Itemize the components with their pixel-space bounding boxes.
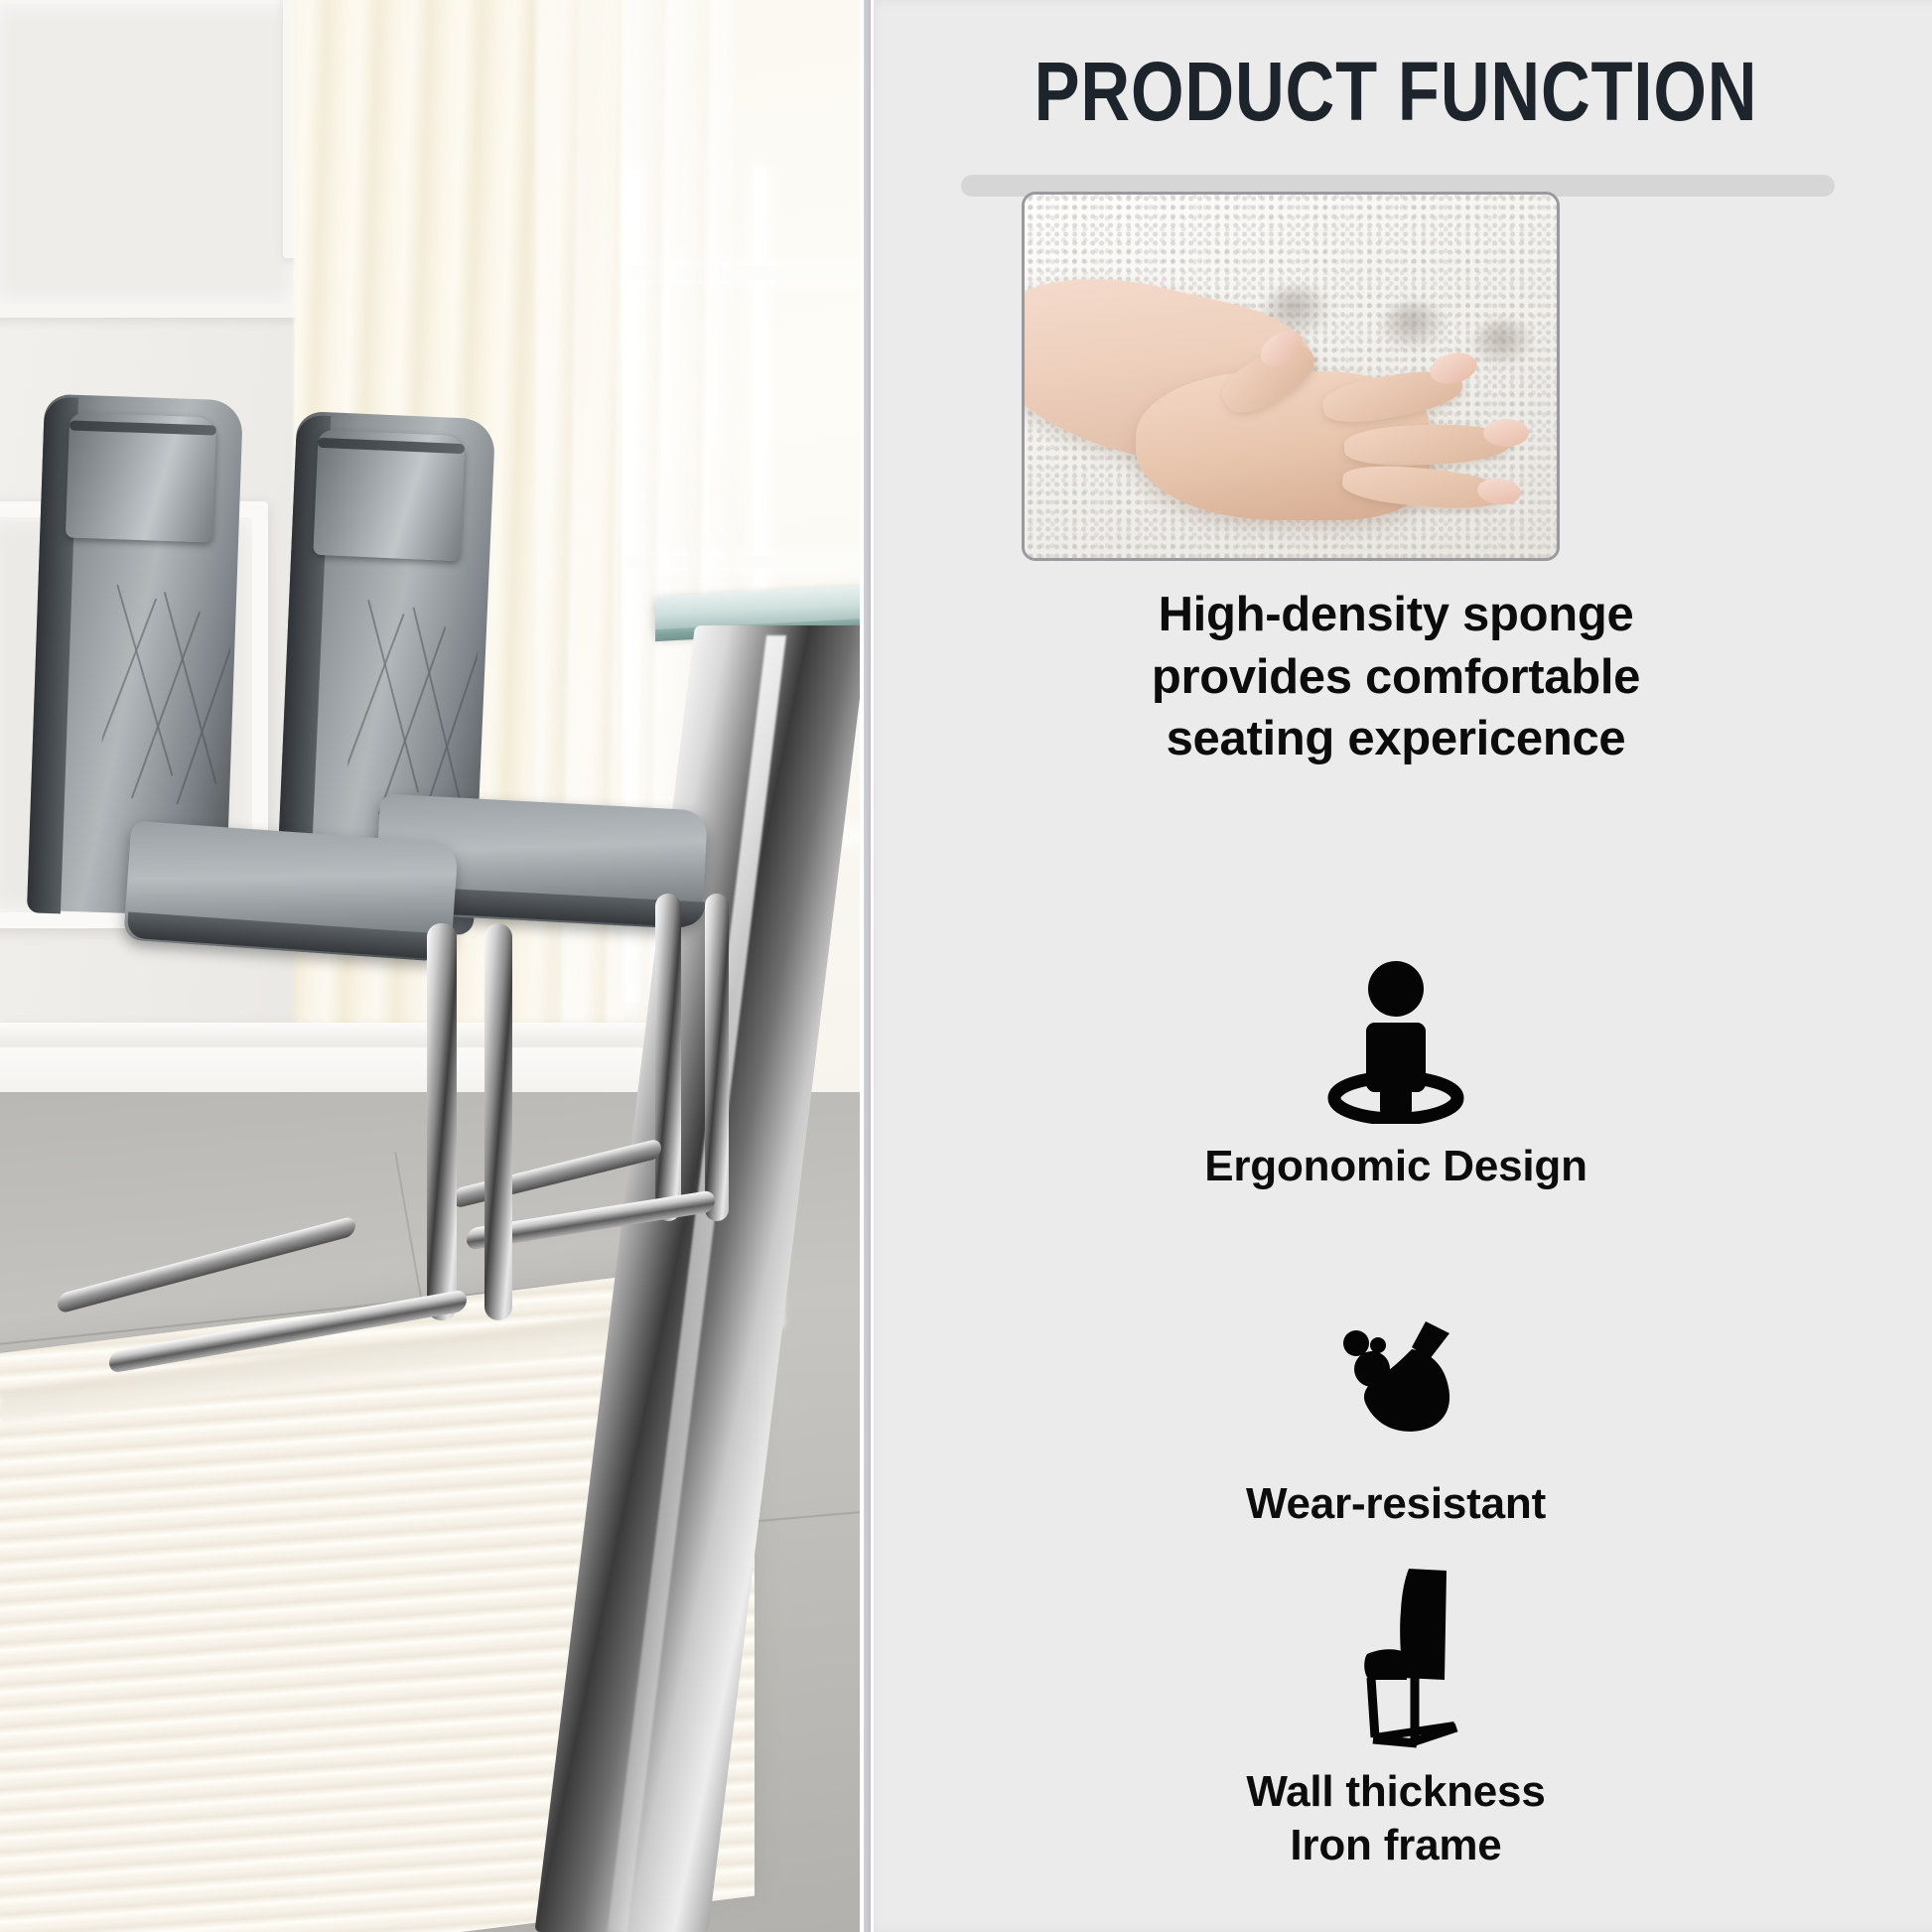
foam-indentation bbox=[1382, 302, 1448, 351]
feature-label: Wear-resistant bbox=[860, 1477, 1932, 1531]
feature-iron-frame: Wall thickness Iron frame bbox=[860, 1555, 1932, 1871]
feature-label: Wall thickness Iron frame bbox=[860, 1765, 1932, 1871]
panel-divider bbox=[864, 0, 871, 1932]
feature-label: Ergonomic Design bbox=[860, 1140, 1932, 1193]
chair-leg-tube bbox=[705, 894, 729, 1221]
feature-label-line-1: Wall thickness bbox=[860, 1765, 1932, 1819]
headline-line-1: High-density sponge bbox=[860, 584, 1932, 646]
page-title: PRODUCT FUNCTION bbox=[956, 44, 1836, 140]
feature-label-line-1: Wear-resistant bbox=[860, 1477, 1932, 1531]
headline-line-3: seating expericence bbox=[860, 708, 1932, 770]
person-in-circle-icon bbox=[1316, 957, 1475, 1124]
feature-icon-wrap bbox=[860, 1299, 1932, 1477]
headline-line-2: provides comfortable bbox=[860, 646, 1932, 709]
foam-indentation bbox=[1473, 320, 1535, 367]
broom-sweeping-icon bbox=[1309, 1313, 1483, 1462]
feature-ergonomic-design: Ergonomic Design bbox=[860, 941, 1932, 1193]
product-function-infographic: PRODUCT FUNCTION High-density sponge pro… bbox=[0, 0, 1932, 1932]
cantilever-chair-icon bbox=[1306, 1563, 1486, 1757]
product-scene-photo bbox=[0, 0, 860, 1932]
hero-headline: High-density sponge provides comfortable… bbox=[860, 584, 1932, 770]
chair-leg-tube bbox=[484, 923, 512, 1320]
wall-moulding-panel bbox=[0, 0, 308, 318]
feature-label-line-2: Iron frame bbox=[860, 1819, 1932, 1872]
chair-quilting bbox=[98, 554, 233, 856]
feature-label-line-1: Ergonomic Design bbox=[860, 1140, 1932, 1193]
fingernail bbox=[1483, 419, 1529, 447]
product-function-panel: PRODUCT FUNCTION High-density sponge pro… bbox=[860, 0, 1932, 1932]
feature-wear-resistant: Wear-resistant bbox=[860, 1299, 1932, 1531]
chair-leg-tube bbox=[655, 894, 681, 1221]
hand-pressing-sponge-photo bbox=[1022, 192, 1560, 561]
feature-icon-wrap bbox=[860, 1555, 1932, 1765]
feature-icon-wrap bbox=[860, 941, 1932, 1140]
chair-leg-tube bbox=[427, 923, 457, 1320]
